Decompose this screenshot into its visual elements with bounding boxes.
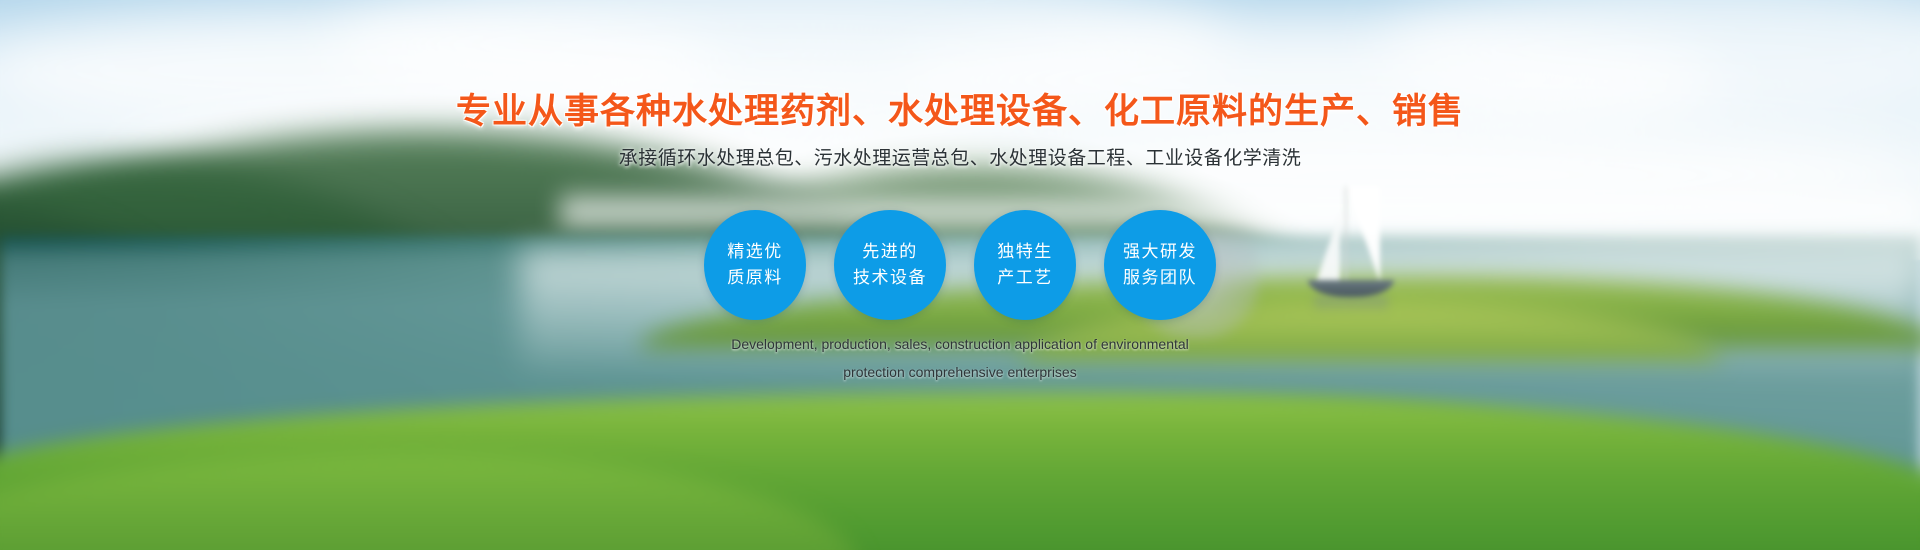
hero-banner: 专业从事各种水处理药剂、水处理设备、化工原料的生产、销售 承接循环水处理总包、污…: [0, 0, 1920, 550]
feature-bubble-4[interactable]: 强大研发 服务团队: [1104, 210, 1216, 320]
english-tagline-line1: Development, production, sales, construc…: [0, 330, 1920, 358]
feature-bubble-3[interactable]: 独特生 产工艺: [974, 210, 1076, 320]
feature-bubble-1-line1: 精选优: [727, 239, 783, 265]
feature-bubble-2-line1: 先进的: [862, 239, 918, 265]
feature-bubble-1-line2: 质原料: [727, 265, 783, 291]
banner-english-tagline: Development, production, sales, construc…: [0, 330, 1920, 386]
feature-bubble-4-line1: 强大研发: [1123, 239, 1197, 265]
feature-bubble-1[interactable]: 精选优 质原料: [704, 210, 806, 320]
banner-content: 专业从事各种水处理药剂、水处理设备、化工原料的生产、销售 承接循环水处理总包、污…: [0, 0, 1920, 550]
feature-bubble-4-line2: 服务团队: [1123, 265, 1197, 291]
feature-bubble-list: 精选优 质原料 先进的 技术设备 独特生 产工艺 强大研发 服务团队: [0, 207, 1920, 322]
feature-bubble-2[interactable]: 先进的 技术设备: [834, 210, 946, 320]
english-tagline-line2: protection comprehensive enterprises: [0, 358, 1920, 386]
feature-bubble-3-line2: 产工艺: [997, 265, 1053, 291]
banner-subheadline: 承接循环水处理总包、污水处理运营总包、水处理设备工程、工业设备化学清洗: [0, 143, 1920, 170]
feature-bubble-2-line2: 技术设备: [853, 265, 927, 291]
banner-headline: 专业从事各种水处理药剂、水处理设备、化工原料的生产、销售: [0, 83, 1920, 134]
feature-bubble-3-line1: 独特生: [997, 239, 1053, 265]
